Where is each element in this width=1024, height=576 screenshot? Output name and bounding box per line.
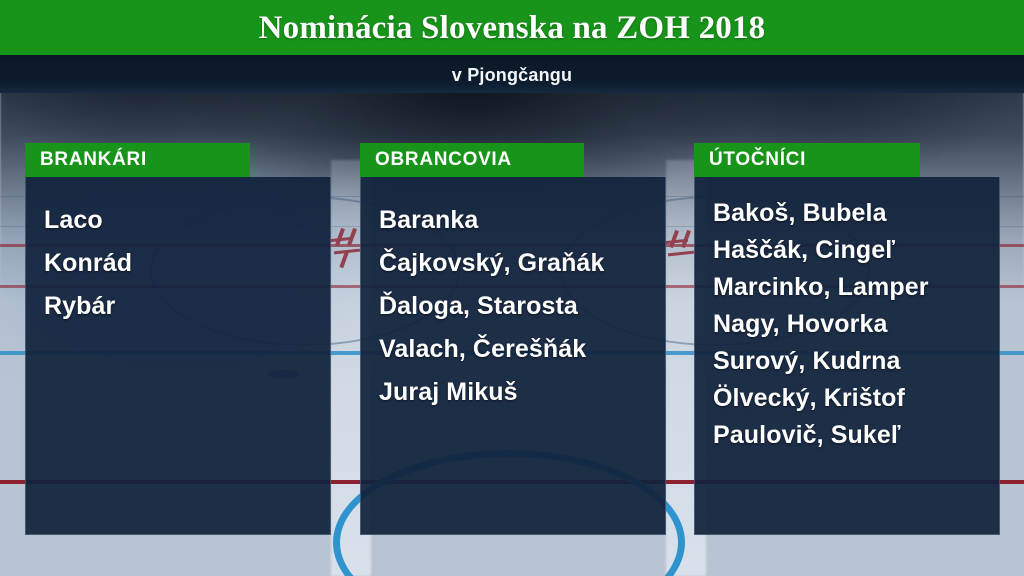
column-heading-label: BRANKÁRI <box>40 149 147 171</box>
list-item: Valach, Čerešňák <box>379 328 665 371</box>
list-item: Bakoš, Bubela <box>713 195 999 232</box>
page-title: Nominácia Slovenska na ZOH 2018 <box>259 10 766 47</box>
list-item: Haščák, Cingeľ <box>713 232 999 269</box>
column-header-forwards: ÚTOČNÍCI <box>694 143 920 177</box>
column-heading-label: OBRANCOVIA <box>375 149 512 171</box>
column-body-forwards: Bakoš, Bubela Haščák, Cingeľ Marcinko, L… <box>694 177 1000 535</box>
list-item: Laco <box>44 199 330 242</box>
list-item: Baranka <box>379 199 665 242</box>
page-subtitle: v Pjongčangu <box>452 65 572 86</box>
list-item: Rybár <box>44 285 330 328</box>
column-body-goalies: Laco Konrád Rybár <box>25 177 331 535</box>
column-header-goalies: BRANKÁRI <box>25 143 250 177</box>
list-item: Juraj Mikuš <box>379 371 665 414</box>
column-body-defence: Baranka Čajkovský, Graňák Ďaloga, Staros… <box>360 177 666 535</box>
list-item: Paulovič, Sukeľ <box>713 417 999 454</box>
column-header-defence: OBRANCOVIA <box>360 143 584 177</box>
list-item: Konrád <box>44 242 330 285</box>
list-item: Čajkovský, Graňák <box>379 242 665 285</box>
list-item: Ölvecký, Krištof <box>713 380 999 417</box>
list-item: Ďaloga, Starosta <box>379 285 665 328</box>
list-item: Surový, Kudrna <box>713 343 999 380</box>
title-bar: Nominácia Slovenska na ZOH 2018 <box>0 0 1024 57</box>
broadcast-graphic: Nominácia Slovenska na ZOH 2018 v Pjongč… <box>0 0 1024 576</box>
list-item: Marcinko, Lamper <box>713 269 999 306</box>
subtitle-bar: v Pjongčangu <box>0 57 1024 93</box>
column-heading-label: ÚTOČNÍCI <box>709 149 806 171</box>
list-item: Nagy, Hovorka <box>713 306 999 343</box>
